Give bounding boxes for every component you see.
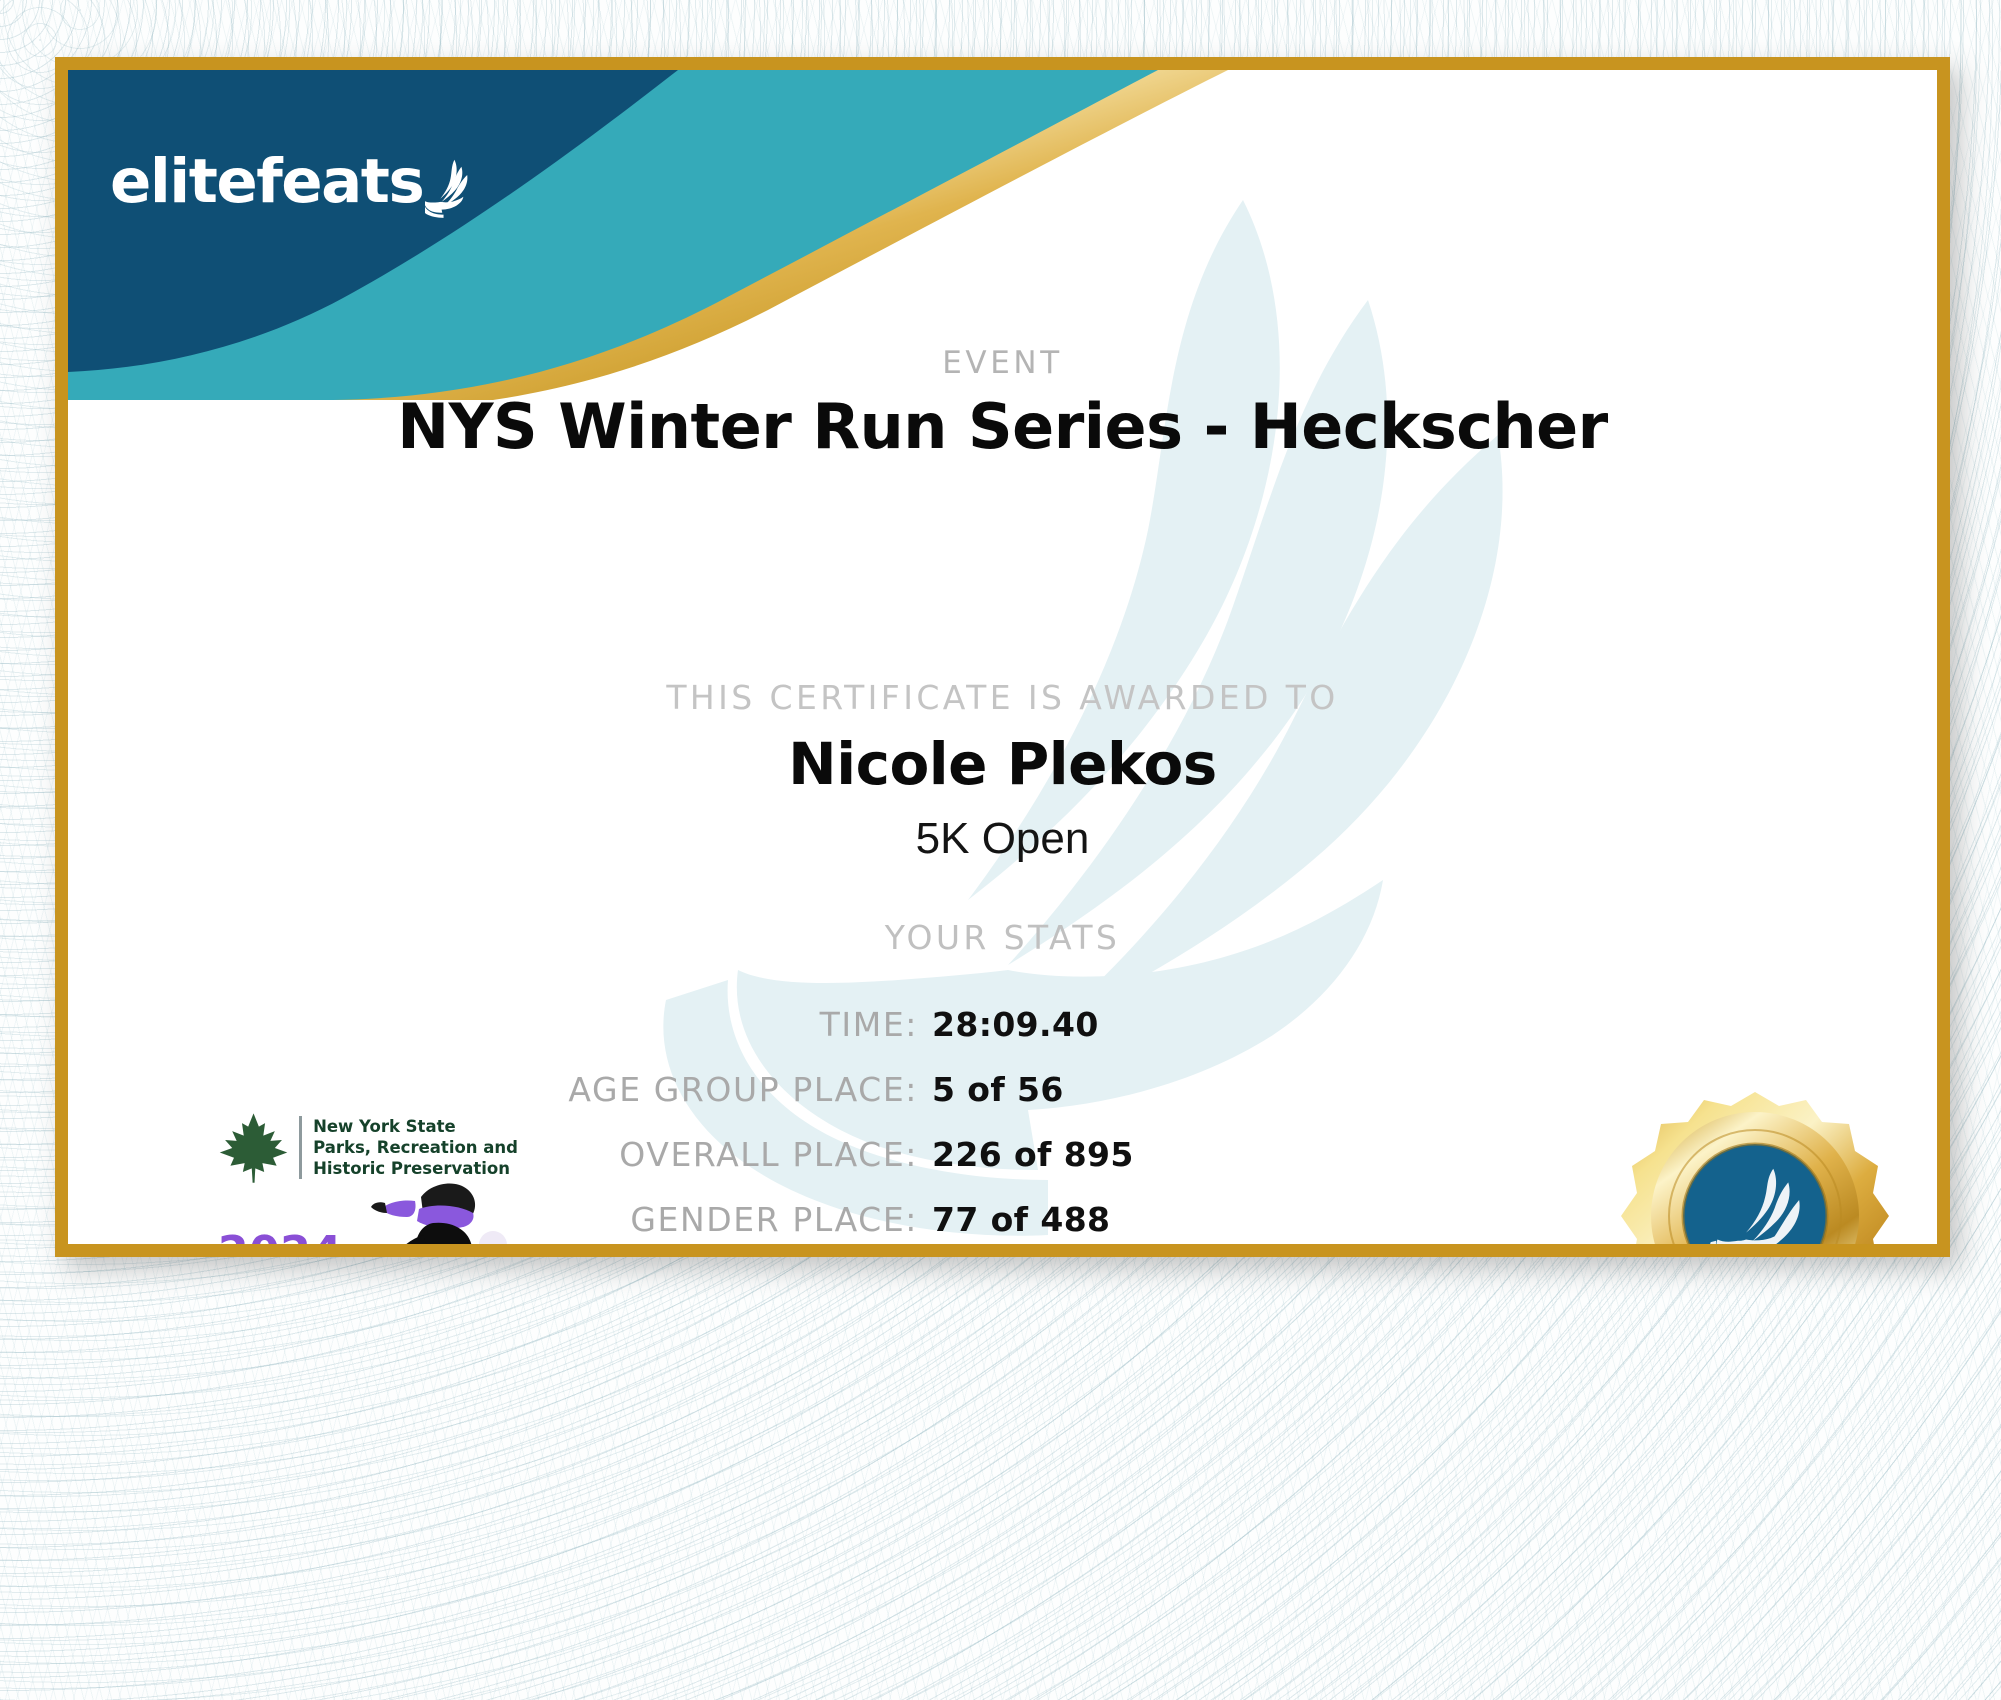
stat-key-age-group-place: AGE GROUP PLACE: [448, 1070, 918, 1109]
stat-key-time: TIME: [448, 1005, 918, 1044]
nys-parks-line1: New York State [313, 1116, 518, 1137]
winged-foot-icon [425, 144, 470, 224]
event-label: EVENT [68, 345, 1937, 381]
certificate-inner: elitefeats EVENT NYS Winter Run Series -… [68, 70, 1937, 1244]
nys-parks-text-block: New York State Parks, Recreation and His… [299, 1116, 518, 1179]
stat-value-age-group-place: 5 of 56 [932, 1070, 1064, 1109]
stat-value-overall-place: 226 of 895 [932, 1135, 1134, 1174]
stat-row-gender-place: GENDER PLACE: 77 of 488 [448, 1200, 1268, 1244]
awarded-to-label: THIS CERTIFICATE IS AWARDED TO [68, 678, 1937, 717]
stat-row-time: TIME: 28:09.40 [448, 1005, 1268, 1053]
stat-key-overall-place: OVERALL PLACE: [448, 1135, 918, 1174]
event-title: NYS Winter Run Series - Heckscher [68, 390, 1937, 463]
certificate-page: elitefeats EVENT NYS Winter Run Series -… [0, 0, 2001, 1700]
stat-row-overall-place: OVERALL PLACE: 226 of 895 [448, 1135, 1268, 1183]
stat-value-time: 28:09.40 [932, 1005, 1099, 1044]
winter-run-series-logo: 2024 [208, 1175, 538, 1244]
recipient-division: 5K Open [68, 814, 1937, 864]
stat-value-gender-place: 77 of 488 [932, 1200, 1110, 1239]
stats-label: YOUR STATS [68, 918, 1937, 957]
running-person-icon [303, 1175, 533, 1244]
certificate-card: elitefeats EVENT NYS Winter Run Series -… [55, 57, 1950, 1257]
recipient-name: Nicole Plekos [68, 730, 1937, 798]
elitefeats-logo: elitefeats [110, 126, 470, 236]
elitefeats-wordmark: elitefeats [110, 146, 423, 217]
nys-parks-line2: Parks, Recreation and [313, 1137, 518, 1158]
finisher-medal-badge: 2024 [1590, 1080, 1920, 1244]
medal-ribbon-icon [1590, 1080, 1920, 1244]
stat-row-age-group-place: AGE GROUP PLACE: 5 of 56 [448, 1070, 1268, 1118]
stats-table: TIME: 28:09.40 AGE GROUP PLACE: 5 of 56 … [448, 1005, 1268, 1244]
